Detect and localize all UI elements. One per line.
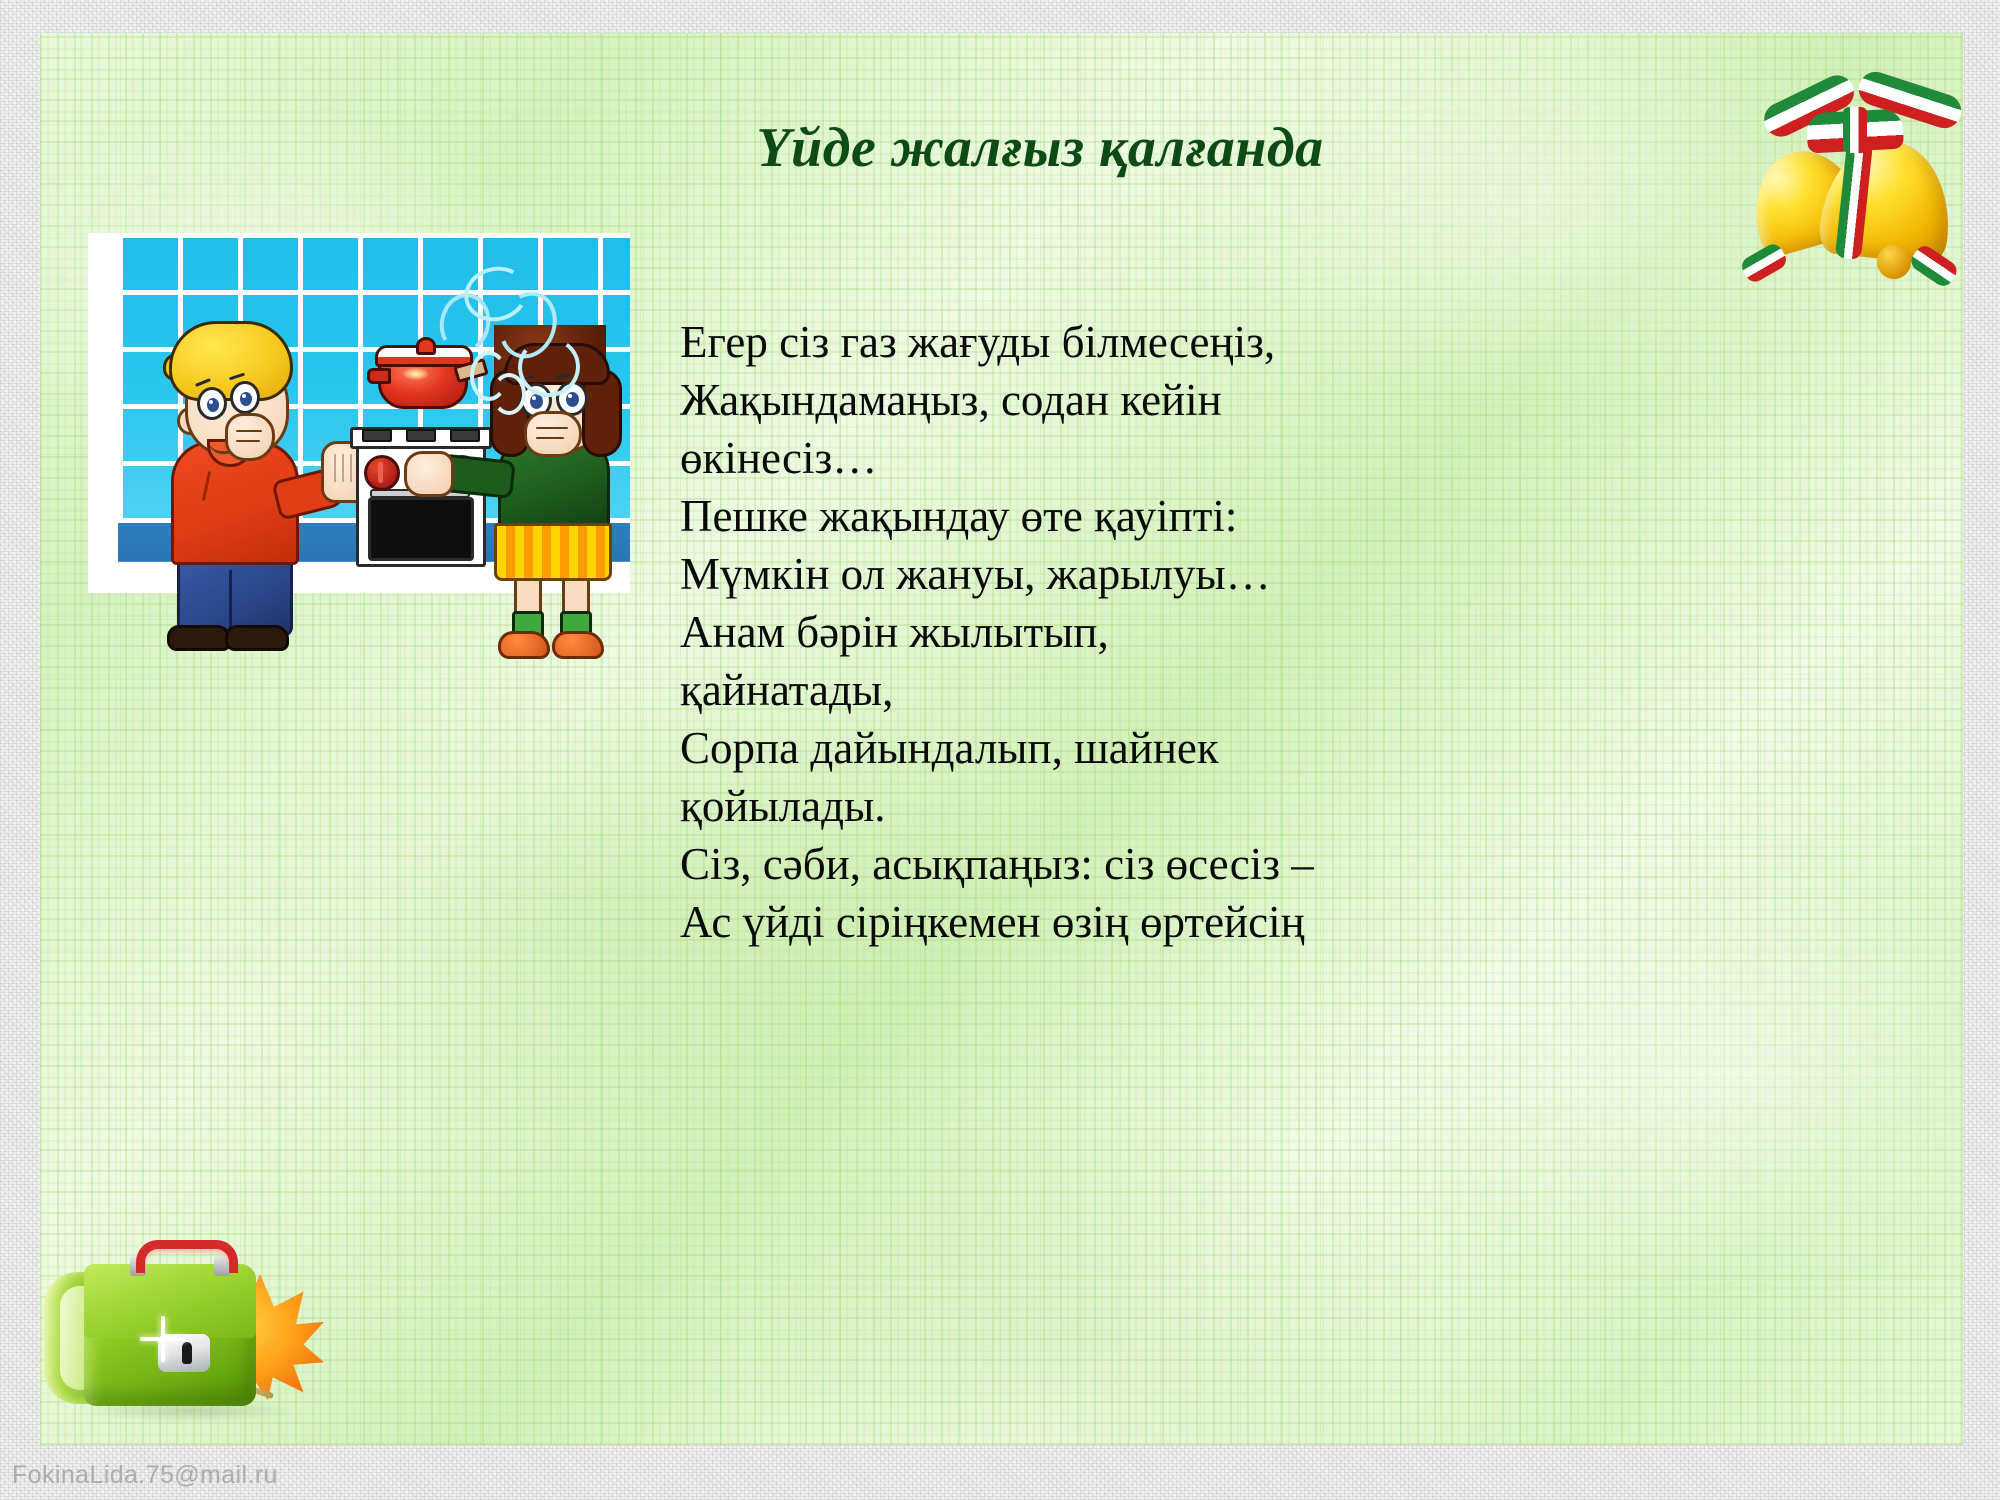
sparkle-icon: [140, 1316, 186, 1362]
boy-shoe-right: [225, 625, 289, 651]
poem-line: Егер сіз газ жағуды білмесеңіз,: [680, 313, 1480, 371]
poem-line: Ас үйді сіріңкемен өзің өртейсің: [680, 893, 1480, 951]
red-cooking-pot: [378, 355, 468, 409]
girl-shoe-right: [552, 631, 604, 659]
poem-line: Мүмкін ол жануы, жарылуы…: [680, 545, 1480, 603]
boy-hand-covering-nose: [225, 413, 275, 461]
pot-highlight: [403, 368, 429, 380]
slide-canvas: Үйде жалғыз қалғанда: [0, 0, 2000, 1500]
poem-line: Пешке жақындау өте қауіпті:: [680, 487, 1480, 545]
poem-line: өкінесіз…: [680, 429, 1480, 487]
boy-character: [163, 321, 313, 556]
bell-clapper: [1877, 245, 1911, 279]
slide-inner-background: Үйде жалғыз қалғанда: [40, 33, 1963, 1445]
girl-hand-on-knob: [404, 451, 454, 497]
ribbon-knot: [1843, 107, 1867, 153]
poem-line: қайнатады,: [680, 661, 1480, 719]
girl-hand-covering-mouth: [524, 411, 582, 457]
poem-line: Сорпа дайындалып, шайнек: [680, 719, 1480, 777]
girl-striped-skirt: [494, 523, 612, 581]
boy-eye-right: [230, 381, 260, 414]
watermark-email: FokinaLida.75@mail.ru: [12, 1461, 278, 1490]
school-bells-icon: [1745, 45, 1980, 280]
burner-3: [450, 429, 480, 442]
stove-knob-1: [364, 455, 400, 491]
poem-line: Жақындамаңыз, содан кейін: [680, 371, 1480, 429]
burner-2: [406, 429, 436, 442]
poem-line: Анам бәрін жылытып,: [680, 603, 1480, 661]
page-title: Үйде жалғыз қалғанда: [340, 119, 1740, 178]
poem-line: қойылады.: [680, 777, 1480, 835]
pot-handle-left: [367, 368, 391, 384]
boy-eye-left: [197, 387, 227, 420]
oven-window: [368, 497, 474, 561]
poem-text-block: Егер сіз газ жағуды білмесеңіз, Жақындам…: [680, 313, 1480, 951]
school-briefcase-icon: [28, 1238, 318, 1438]
boy-shoe-left: [167, 625, 231, 651]
burner-1: [362, 429, 392, 442]
briefcase-handle: [136, 1240, 238, 1273]
kitchen-illustration: [88, 233, 630, 593]
poem-line: Сіз, сәби, асықпаңыз: сіз өсесіз –: [680, 835, 1480, 893]
girl-shoe-left: [498, 631, 550, 659]
steam-puff-6: [492, 373, 526, 415]
